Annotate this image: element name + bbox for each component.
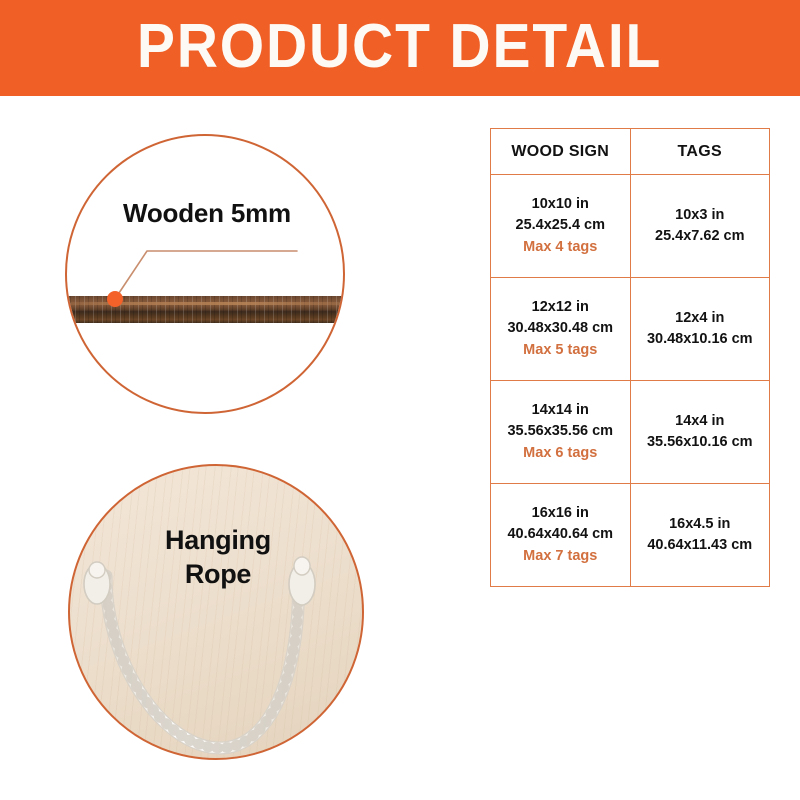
tags-cm: 35.56x10.16 cm — [635, 432, 766, 453]
wood-sign-cell: 16x16 in 40.64x40.64 cm Max 7 tags — [491, 484, 631, 587]
tags-cell: 12x4 in 30.48x10.16 cm — [630, 278, 770, 381]
wood-sign-max-tags: Max 7 tags — [495, 546, 626, 567]
hanging-rope-label-line1: Hanging — [165, 525, 271, 555]
hanging-rope-label-line2: Rope — [185, 559, 251, 589]
feature-illustrations: Wooden 5mm Hanging Ro — [0, 96, 470, 800]
tags-inches: 14x4 in — [635, 411, 766, 432]
wood-thickness-illustration: Wooden 5mm — [65, 134, 345, 414]
wood-sign-cell: 14x14 in 35.56x35.56 cm Max 6 tags — [491, 381, 631, 484]
wood-sign-inches: 10x10 in — [495, 194, 626, 215]
tags-cell: 16x4.5 in 40.64x11.43 cm — [630, 484, 770, 587]
wood-sign-cell: 12x12 in 30.48x30.48 cm Max 5 tags — [491, 278, 631, 381]
wood-sign-max-tags: Max 5 tags — [495, 340, 626, 361]
tags-inches: 16x4.5 in — [635, 514, 766, 535]
tags-cell: 10x3 in 25.4x7.62 cm — [630, 175, 770, 278]
size-spec-table: WOOD SIGN TAGS 10x10 in 25.4x25.4 cm Max… — [490, 128, 770, 587]
wood-sign-cm: 30.48x30.48 cm — [495, 318, 626, 339]
wood-sign-cell: 10x10 in 25.4x25.4 cm Max 4 tags — [491, 175, 631, 278]
wood-sign-cm: 35.56x35.56 cm — [495, 421, 626, 442]
callout-dot-icon — [107, 291, 123, 307]
wood-sign-max-tags: Max 6 tags — [495, 443, 626, 464]
tags-inches: 10x3 in — [635, 205, 766, 226]
tags-cm: 25.4x7.62 cm — [635, 226, 766, 247]
column-header-tags: TAGS — [630, 129, 770, 175]
wood-sign-max-tags: Max 4 tags — [495, 237, 626, 258]
wood-sign-inches: 12x12 in — [495, 297, 626, 318]
table-row: 12x12 in 30.48x30.48 cm Max 5 tags 12x4 … — [491, 278, 770, 381]
table-header-row: WOOD SIGN TAGS — [491, 129, 770, 175]
rope-icon — [70, 466, 364, 760]
tags-cm: 30.48x10.16 cm — [635, 329, 766, 350]
hanging-rope-illustration: Hanging Rope — [68, 464, 364, 760]
table-row: 16x16 in 40.64x40.64 cm Max 7 tags 16x4.… — [491, 484, 770, 587]
wood-sign-inches: 14x14 in — [495, 400, 626, 421]
table-row: 10x10 in 25.4x25.4 cm Max 4 tags 10x3 in… — [491, 175, 770, 278]
table-row: 14x14 in 35.56x35.56 cm Max 6 tags 14x4 … — [491, 381, 770, 484]
wood-sign-cm: 40.64x40.64 cm — [495, 524, 626, 545]
wood-thickness-label: Wooden 5mm — [67, 198, 345, 229]
tags-inches: 12x4 in — [635, 308, 766, 329]
callout-leader-line-icon — [67, 136, 345, 414]
column-header-wood-sign: WOOD SIGN — [491, 129, 631, 175]
wood-sign-cm: 25.4x25.4 cm — [495, 215, 626, 236]
tags-cm: 40.64x11.43 cm — [635, 535, 766, 556]
wood-sign-inches: 16x16 in — [495, 503, 626, 524]
tags-cell: 14x4 in 35.56x10.16 cm — [630, 381, 770, 484]
header-banner: PRODUCT DETAIL — [0, 0, 800, 96]
hanging-rope-label: Hanging Rope — [70, 524, 364, 592]
page-title: PRODUCT DETAIL — [137, 16, 662, 78]
